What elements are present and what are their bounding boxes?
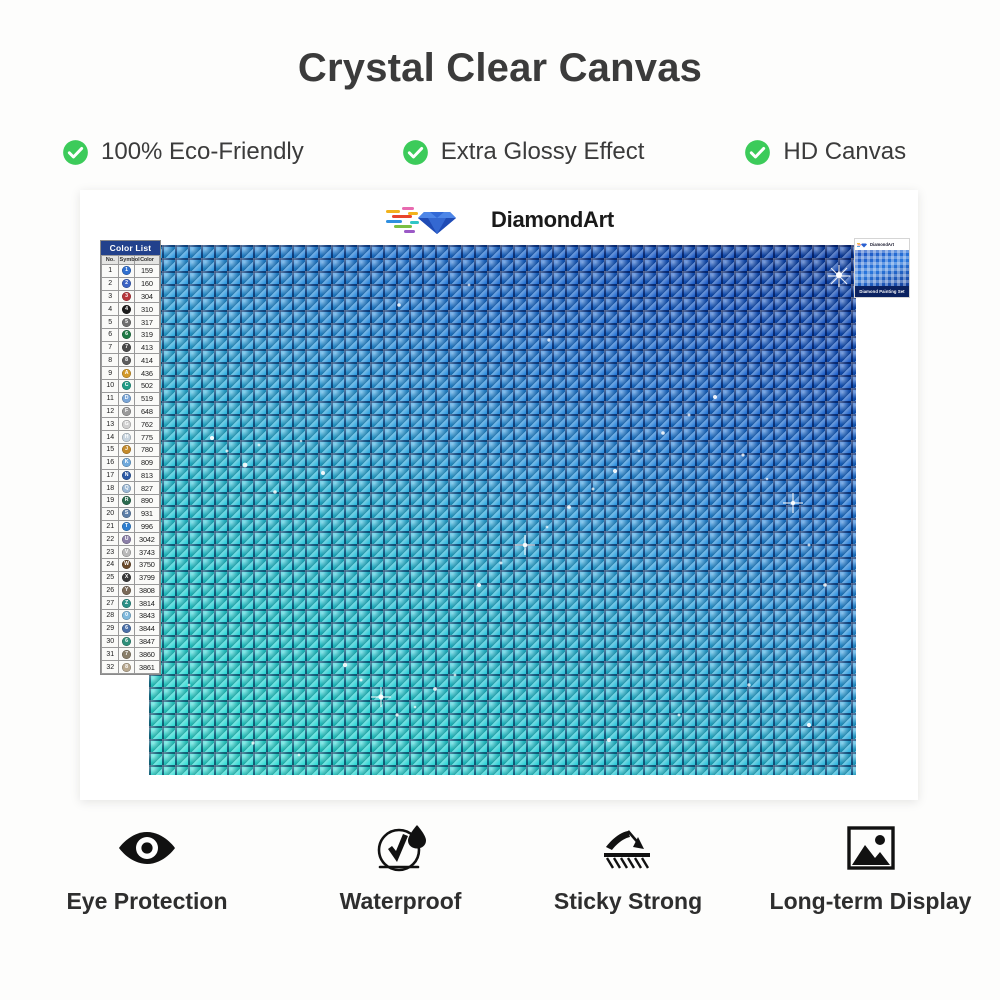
symbol-badge: 4	[122, 305, 131, 314]
symbol-badge: C	[122, 381, 131, 390]
table-row: 23V3743	[102, 546, 160, 559]
symbol-badge: A	[122, 369, 131, 378]
color-row-number: 16	[102, 456, 119, 469]
color-row-number: 17	[102, 469, 119, 482]
table-row: 88414	[102, 354, 160, 367]
brand-name: DiamondArt	[491, 207, 614, 233]
color-row-symbol: A	[119, 367, 134, 380]
color-row-symbol: 7	[119, 648, 134, 661]
color-row-number: 29	[102, 622, 119, 635]
table-row: 2803843	[102, 610, 160, 623]
color-row-symbol: K	[119, 456, 134, 469]
color-row-symbol: 0	[119, 610, 134, 623]
table-row: 16K809	[102, 456, 160, 469]
color-row-symbol: Z	[119, 597, 134, 610]
color-row-number: 18	[102, 482, 119, 495]
table-row: 18Q827	[102, 482, 160, 495]
color-row-number: 27	[102, 597, 119, 610]
symbol-badge: T	[122, 522, 131, 531]
feature-list: 100% Eco-Friendly Extra Glossy Effect HD…	[0, 132, 1000, 172]
package-thumbnail: DiamondArt Diamond Painting Set	[854, 238, 910, 298]
color-row-code: 159	[134, 265, 159, 278]
color-row-symbol: D	[119, 392, 134, 405]
table-row: 22160	[102, 277, 160, 290]
product-card: DiamondArt	[80, 190, 918, 800]
table-row: 3283861	[102, 661, 160, 674]
color-row-code: 780	[134, 443, 159, 456]
symbol-badge: H	[122, 433, 131, 442]
benefit-label: Long-term Display	[770, 888, 972, 915]
color-row-code: 996	[134, 520, 159, 533]
diamond-logo-icon	[857, 242, 868, 248]
benefit-label: Eye Protection	[66, 888, 227, 915]
color-row-code: 3843	[134, 610, 159, 623]
color-row-code: 413	[134, 341, 159, 354]
diamond-canvas-artwork	[149, 245, 856, 775]
symbol-badge: R	[122, 496, 131, 505]
color-row-symbol: T	[119, 520, 134, 533]
color-row-code: 3042	[134, 533, 159, 546]
benefit-item-sticky-strong: Sticky Strong	[513, 822, 743, 915]
table-row: 33304	[102, 290, 160, 303]
color-row-code: 648	[134, 405, 159, 418]
feature-label: 100% Eco-Friendly	[101, 138, 304, 166]
symbol-badge: W	[122, 560, 131, 569]
color-row-symbol: C	[119, 380, 134, 393]
color-row-symbol: G	[119, 418, 134, 431]
color-row-code: 3799	[134, 571, 159, 584]
feature-label: HD Canvas	[783, 138, 906, 166]
color-row-symbol: Y	[119, 584, 134, 597]
table-row: 13G762	[102, 418, 160, 431]
color-row-number: 5	[102, 316, 119, 329]
color-row-symbol: 8	[119, 354, 134, 367]
color-row-symbol: F	[119, 405, 134, 418]
symbol-badge: S	[122, 509, 131, 518]
color-row-symbol: S	[119, 507, 134, 520]
check-circle-icon	[402, 139, 429, 166]
symbol-badge: Y	[122, 586, 131, 595]
color-row-code: 813	[134, 469, 159, 482]
symbol-badge: U	[122, 535, 131, 544]
color-list-body: 1115922160333044431055317663197741388414…	[102, 265, 160, 674]
color-row-symbol: J	[119, 443, 134, 456]
color-row-code: 519	[134, 392, 159, 405]
color-row-number: 1	[102, 265, 119, 278]
color-list-panel: Color List No. Symbol Color 111592216033…	[100, 240, 161, 675]
color-row-code: 502	[134, 380, 159, 393]
feature-item-glossy-effect: Extra Glossy Effect	[402, 138, 645, 166]
color-row-symbol: Q	[119, 482, 134, 495]
color-row-code: 809	[134, 456, 159, 469]
benefit-icon-wrap	[846, 822, 896, 874]
symbol-badge: J	[122, 445, 131, 454]
page-title: Crystal Clear Canvas	[0, 46, 1000, 91]
column-header-symbol: Symbol	[119, 256, 134, 265]
benefit-item-waterproof: Waterproof	[288, 822, 513, 915]
color-row-number: 28	[102, 610, 119, 623]
color-row-symbol: X	[119, 571, 134, 584]
color-row-symbol: U	[119, 533, 134, 546]
color-row-code: 3844	[134, 622, 159, 635]
color-row-number: 26	[102, 584, 119, 597]
symbol-badge: D	[122, 394, 131, 403]
color-row-code: 890	[134, 495, 159, 508]
color-row-symbol: 7	[119, 341, 134, 354]
color-row-symbol: H	[119, 431, 134, 444]
package-art	[855, 250, 909, 286]
color-row-code: 3743	[134, 546, 159, 559]
color-row-symbol: 8	[119, 661, 134, 674]
color-row-symbol: 2	[119, 277, 134, 290]
water-drop-check-icon	[374, 822, 428, 874]
color-row-code: 3750	[134, 558, 159, 571]
package-caption: Diamond Painting Set	[855, 286, 909, 297]
symbol-badge: 7	[122, 343, 131, 352]
symbol-badge: X	[122, 573, 131, 582]
color-row-number: 6	[102, 328, 119, 341]
table-row: 77413	[102, 341, 160, 354]
benefit-icon-wrap	[116, 822, 178, 874]
benefit-item-long-term-display: Long-term Display	[743, 822, 998, 915]
color-row-number: 7	[102, 341, 119, 354]
color-list-header-row: No. Symbol Color	[102, 256, 160, 265]
color-row-code: 414	[134, 354, 159, 367]
symbol-badge: 0	[122, 611, 131, 620]
benefit-list: Eye Protection Waterproof	[0, 822, 1000, 915]
color-row-number: 23	[102, 546, 119, 559]
color-row-symbol: V	[119, 546, 134, 559]
symbol-badge: Q	[122, 484, 131, 493]
color-row-symbol: W	[119, 558, 134, 571]
color-list-title: Color List	[101, 241, 160, 255]
table-row: 44310	[102, 303, 160, 316]
color-row-number: 8	[102, 354, 119, 367]
color-row-number: 31	[102, 648, 119, 661]
symbol-badge: 8	[122, 663, 131, 672]
benefit-label: Waterproof	[340, 888, 462, 915]
color-row-code: 762	[134, 418, 159, 431]
color-row-number: 3	[102, 290, 119, 303]
symbol-badge: 6	[122, 637, 131, 646]
color-row-symbol: 1	[119, 265, 134, 278]
symbol-badge: 2	[122, 279, 131, 288]
feature-item-hd-canvas: HD Canvas	[744, 138, 906, 166]
picture-frame-icon	[846, 825, 896, 871]
color-row-code: 160	[134, 277, 159, 290]
color-row-number: 9	[102, 367, 119, 380]
table-row: 17N813	[102, 469, 160, 482]
table-row: 9A436	[102, 367, 160, 380]
symbol-badge: 7	[122, 650, 131, 659]
symbol-badge: 3	[122, 292, 131, 301]
color-row-number: 30	[102, 635, 119, 648]
color-row-code: 827	[134, 482, 159, 495]
color-row-number: 13	[102, 418, 119, 431]
table-row: 22U3042	[102, 533, 160, 546]
color-row-symbol: 6	[119, 328, 134, 341]
color-row-number: 24	[102, 558, 119, 571]
brand-logo: DiamondArt	[80, 202, 918, 238]
color-row-number: 19	[102, 495, 119, 508]
color-row-symbol: R	[119, 495, 134, 508]
benefit-label: Sticky Strong	[554, 888, 702, 915]
color-row-symbol: 6	[119, 622, 134, 635]
symbol-badge: 1	[122, 266, 131, 275]
color-row-number: 22	[102, 533, 119, 546]
table-row: 15J780	[102, 443, 160, 456]
table-row: 20S931	[102, 507, 160, 520]
color-row-number: 15	[102, 443, 119, 456]
symbol-badge: G	[122, 420, 131, 429]
color-row-code: 3808	[134, 584, 159, 597]
color-row-symbol: 4	[119, 303, 134, 316]
table-row: 66319	[102, 328, 160, 341]
table-row: 25X3799	[102, 571, 160, 584]
color-row-code: 317	[134, 316, 159, 329]
symbol-badge: K	[122, 458, 131, 467]
table-row: 27Z3814	[102, 597, 160, 610]
color-row-number: 21	[102, 520, 119, 533]
diamond-logo-icon	[384, 203, 484, 237]
color-row-symbol: 3	[119, 290, 134, 303]
color-row-number: 20	[102, 507, 119, 520]
color-list-table: No. Symbol Color 11159221603330444310553…	[101, 255, 160, 674]
table-row: 11D519	[102, 392, 160, 405]
color-row-code: 3847	[134, 635, 159, 648]
color-row-number: 10	[102, 380, 119, 393]
color-row-number: 4	[102, 303, 119, 316]
table-row: 26Y3808	[102, 584, 160, 597]
color-row-code: 310	[134, 303, 159, 316]
color-row-symbol: 5	[119, 316, 134, 329]
table-row: 12F648	[102, 405, 160, 418]
table-row: 11159	[102, 265, 160, 278]
symbol-badge: 8	[122, 356, 131, 365]
color-row-number: 2	[102, 277, 119, 290]
sparkle-overlay	[149, 245, 856, 775]
benefit-icon-wrap	[374, 822, 428, 874]
table-row: 2963844	[102, 622, 160, 635]
check-circle-icon	[62, 139, 89, 166]
table-row: 3173860	[102, 648, 160, 661]
symbol-badge: F	[122, 407, 131, 416]
check-circle-icon	[744, 139, 771, 166]
feature-label: Extra Glossy Effect	[441, 138, 645, 166]
color-row-code: 3814	[134, 597, 159, 610]
table-row: 21T996	[102, 520, 160, 533]
adhesion-peel-icon	[600, 823, 656, 873]
table-row: 24W3750	[102, 558, 160, 571]
color-row-number: 11	[102, 392, 119, 405]
color-row-code: 775	[134, 431, 159, 444]
color-row-number: 32	[102, 661, 119, 674]
table-row: 19R890	[102, 495, 160, 508]
benefit-icon-wrap	[600, 822, 656, 874]
color-row-code: 436	[134, 367, 159, 380]
color-row-symbol: N	[119, 469, 134, 482]
feature-item-eco-friendly: 100% Eco-Friendly	[62, 138, 304, 166]
table-row: 14H775	[102, 431, 160, 444]
table-row: 55317	[102, 316, 160, 329]
symbol-badge: 6	[122, 624, 131, 633]
eye-icon	[116, 828, 178, 868]
color-row-number: 25	[102, 571, 119, 584]
color-row-number: 14	[102, 431, 119, 444]
color-row-symbol: 6	[119, 635, 134, 648]
color-row-code: 304	[134, 290, 159, 303]
symbol-badge: 6	[122, 330, 131, 339]
package-header: DiamondArt	[855, 239, 909, 250]
symbol-badge: V	[122, 548, 131, 557]
benefit-item-eye-protection: Eye Protection	[6, 822, 288, 915]
symbol-badge: Z	[122, 599, 131, 608]
color-row-code: 3860	[134, 648, 159, 661]
table-row: 3063847	[102, 635, 160, 648]
color-row-code: 319	[134, 328, 159, 341]
symbol-badge: 5	[122, 318, 131, 327]
color-row-code: 3861	[134, 661, 159, 674]
color-row-code: 931	[134, 507, 159, 520]
column-header-no: No.	[102, 256, 119, 265]
table-row: 10C502	[102, 380, 160, 393]
symbol-badge: N	[122, 471, 131, 480]
color-row-number: 12	[102, 405, 119, 418]
package-brand: DiamondArt	[870, 242, 894, 247]
